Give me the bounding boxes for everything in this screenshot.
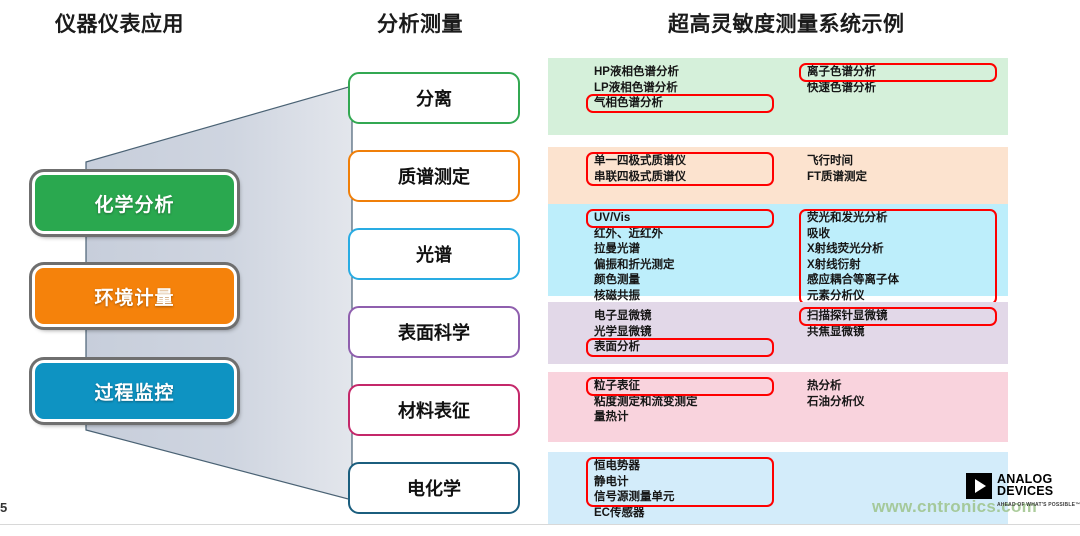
detail-item: FT质谱测定	[803, 170, 871, 186]
slide-canvas: 仪器仪表应用 分析测量 超高灵敏度测量系统示例 化学分析 环境计量 过程监控 分…	[0, 0, 1080, 536]
detail-item: 飞行时间	[803, 154, 871, 170]
detail-column-left: 恒电势器静电计信号源测量单元EC传感器	[590, 459, 679, 521]
detail-item: 颜色测量	[590, 273, 679, 289]
footer-divider	[0, 524, 1080, 525]
detail-item: UV/Vis	[590, 211, 679, 227]
page-number: 5	[0, 500, 7, 515]
logo-wordmark: ANALOG DEVICES AHEAD OF WHAT'S POSSIBLE™	[997, 473, 1080, 511]
detail-item: 电子显微镜	[590, 309, 656, 325]
detail-item: 串联四极式质谱仪	[590, 170, 690, 186]
detail-item: HP液相色谱分析	[590, 65, 683, 81]
logo-tagline: AHEAD OF WHAT'S POSSIBLE™	[997, 499, 1080, 511]
detail-item: 快速色谱分析	[803, 81, 880, 97]
category-box-mass-spectrometry[interactable]: 质谱测定	[348, 150, 520, 202]
category-label: 材料表征	[398, 397, 470, 423]
application-pill-environmental-metrology[interactable]: 环境计量	[32, 265, 237, 327]
detail-item: EC传感器	[590, 506, 679, 522]
category-box-spectroscopy[interactable]: 光谱	[348, 228, 520, 280]
detail-column-right: 荧光和发光分析吸收X射线荧光分析X射线衍射感应耦合等离子体元素分析仪	[803, 211, 903, 304]
analog-devices-logo: ANALOG DEVICES AHEAD OF WHAT'S POSSIBLE™	[966, 473, 1080, 511]
application-pill-process-monitoring[interactable]: 过程监控	[32, 360, 237, 422]
detail-item: 偏振和折光测定	[590, 258, 679, 274]
detail-item: 热分析	[803, 379, 869, 395]
detail-band-mass-spectrometry: 单一四极式质谱仪串联四极式质谱仪飞行时间FT质谱测定	[548, 147, 1008, 205]
detail-item: 荧光和发光分析	[803, 211, 903, 227]
detail-item: 拉曼光谱	[590, 242, 679, 258]
detail-column-left: 电子显微镜光学显微镜表面分析	[590, 309, 656, 356]
detail-item: 粘度测定和流变测定	[590, 395, 702, 411]
detail-item: X射线荧光分析	[803, 242, 903, 258]
detail-column-right: 离子色谱分析快速色谱分析	[803, 65, 880, 96]
detail-item: 量热计	[590, 410, 702, 426]
category-label: 表面科学	[398, 319, 470, 345]
detail-item: 离子色谱分析	[803, 65, 880, 81]
detail-item: 扫描探针显微镜	[803, 309, 892, 325]
detail-column-left: HP液相色谱分析LP液相色谱分析气相色谱分析	[590, 65, 683, 112]
category-box-electrochemistry[interactable]: 电化学	[348, 462, 520, 514]
detail-item: 粒子表征	[590, 379, 702, 395]
detail-column-right: 热分析石油分析仪	[803, 379, 869, 410]
detail-band-separation: HP液相色谱分析LP液相色谱分析气相色谱分析离子色谱分析快速色谱分析	[548, 58, 1008, 135]
detail-column-left: UV/Vis红外、近红外拉曼光谱偏振和折光测定颜色测量核磁共振	[590, 211, 679, 304]
detail-item: 红外、近红外	[590, 227, 679, 243]
detail-item: 单一四极式质谱仪	[590, 154, 690, 170]
category-label: 光谱	[416, 241, 452, 267]
application-pill-chemical-analysis[interactable]: 化学分析	[32, 172, 237, 234]
detail-item: LP液相色谱分析	[590, 81, 683, 97]
category-label: 分离	[416, 85, 452, 111]
detail-item: 信号源测量单元	[590, 490, 679, 506]
detail-item: 感应耦合等离子体	[803, 273, 903, 289]
detail-item: 恒电势器	[590, 459, 679, 475]
category-box-surface-science[interactable]: 表面科学	[348, 306, 520, 358]
application-pill-label: 过程监控	[94, 378, 174, 405]
detail-band-material-characterization: 粒子表征粘度测定和流变测定量热计热分析石油分析仪	[548, 372, 1008, 442]
detail-item: 石油分析仪	[803, 395, 869, 411]
detail-column-right: 扫描探针显微镜共焦显微镜	[803, 309, 892, 340]
detail-column-right: 飞行时间FT质谱测定	[803, 154, 871, 185]
detail-band-surface-science: 电子显微镜光学显微镜表面分析扫描探针显微镜共焦显微镜	[548, 302, 1008, 364]
detail-item: 吸收	[803, 227, 903, 243]
detail-item: X射线衍射	[803, 258, 903, 274]
detail-item: 气相色谱分析	[590, 96, 683, 112]
category-box-separation[interactable]: 分离	[348, 72, 520, 124]
detail-item: 共焦显微镜	[803, 325, 892, 341]
detail-column-left: 粒子表征粘度测定和流变测定量热计	[590, 379, 702, 426]
detail-column-left: 单一四极式质谱仪串联四极式质谱仪	[590, 154, 690, 185]
detail-item: 表面分析	[590, 340, 656, 356]
application-pill-label: 环境计量	[94, 283, 174, 310]
category-label: 质谱测定	[398, 163, 470, 189]
detail-band-spectroscopy: UV/Vis红外、近红外拉曼光谱偏振和折光测定颜色测量核磁共振荧光和发光分析吸收…	[548, 204, 1008, 296]
category-box-material-characterization[interactable]: 材料表征	[348, 384, 520, 436]
detail-item: 静电计	[590, 475, 679, 491]
category-label: 电化学	[407, 475, 461, 501]
play-triangle-icon	[966, 473, 992, 499]
logo-line-2: DEVICES	[997, 485, 1080, 497]
application-pill-label: 化学分析	[94, 190, 174, 217]
detail-item: 光学显微镜	[590, 325, 656, 341]
